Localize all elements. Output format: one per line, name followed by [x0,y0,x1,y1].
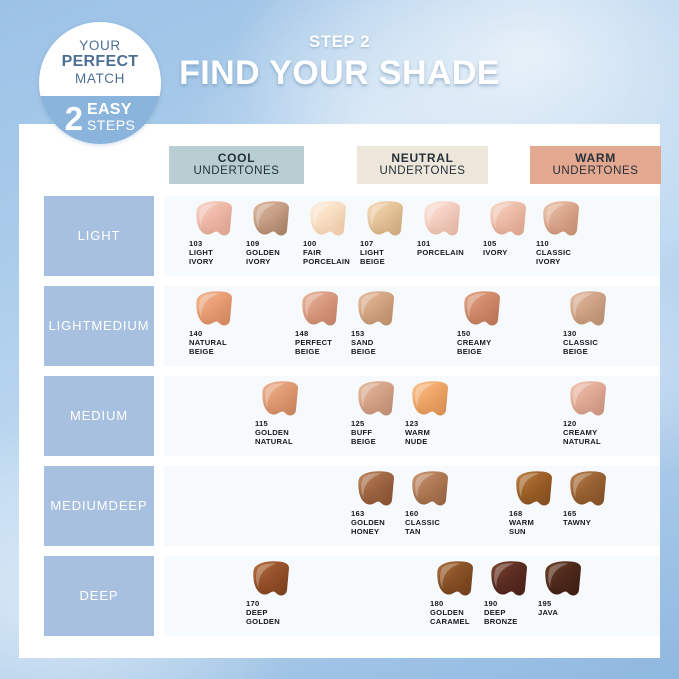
shade-swatch-153[interactable]: 153SANDBEIGE [350,290,412,364]
shade-swatch-165[interactable]: 165TAWNY [562,470,624,544]
foundation-smear-icon [363,200,409,240]
foundation-smear-icon [433,560,479,600]
undertone-neutral-sub: UNDERTONES [379,165,465,178]
shade-info: 120CREAMYNATURAL [563,420,601,447]
shade-name: TAWNY [563,519,591,528]
shade-swatch-160[interactable]: 160CLASSICTAN [404,470,466,544]
shade-info: 107LIGHTBEIGE [360,240,385,267]
undertone-cool-sub: UNDERTONES [193,165,279,178]
depth-label-medium: MEDIUM [44,376,154,456]
shade-swatch-123[interactable]: 123WARMNUDE [404,380,466,454]
depth-label-light-medium: LIGHTMEDIUM [44,286,154,366]
shade-info: 190DEEPBRONZE [484,600,518,627]
shade-info: 160CLASSICTAN [405,510,440,537]
shade-swatch-100[interactable]: 100FAIRPORCELAIN [302,200,364,274]
shade-info: 140NATURALBEIGE [189,330,227,357]
shade-name: JAVA [538,609,558,618]
badge-top-text: YOUR PERFECT MATCH [39,38,161,86]
shade-info: 105IVORY [483,240,508,258]
foundation-smear-icon [192,290,238,330]
shade-swatch-140[interactable]: 140NATURALBEIGE [188,290,250,364]
foundation-smear-icon [354,380,400,420]
shade-info: 110CLASSICIVORY [536,240,571,267]
foundation-smear-icon [541,560,587,600]
shade-name: NATURAL [255,438,293,447]
shade-swatch-103[interactable]: 103LIGHTIVORY [188,200,250,274]
shade-row: MEDIUM 115GOLDENNATURAL [19,376,660,456]
badge-steps-label: STEPS [87,117,135,133]
shade-info: 195JAVA [538,600,558,618]
foundation-smear-icon [487,560,533,600]
shade-row: DEEP 170DEEPGOLDEN [19,556,660,636]
undertone-header-warm: WARM UNDERTONES [530,146,661,184]
shade-name: HONEY [351,528,385,537]
shade-swatch-195[interactable]: 195JAVA [537,560,599,634]
shade-info: 130CLASSICBEIGE [563,330,598,357]
foundation-smear-icon [249,560,295,600]
undertone-neutral-name: NEUTRAL [391,152,453,165]
shade-name: IVORY [189,258,214,267]
shade-info: 170DEEPGOLDEN [246,600,280,627]
shade-name: GOLDEN [246,618,280,627]
undertone-cool-name: COOL [218,152,255,165]
foundation-smear-icon [298,290,344,330]
perfect-match-badge: YOUR PERFECT MATCH 2 EASY STEPS [39,22,161,144]
shade-swatch-120[interactable]: 120CREAMYNATURAL [562,380,624,454]
foundation-smear-icon [408,470,454,510]
foundation-smear-icon [486,200,532,240]
shade-swatch-101[interactable]: 101PORCELAIN [416,200,478,274]
shade-name: BEIGE [360,258,385,267]
shade-info: 150CREAMYBEIGE [457,330,491,357]
foundation-smear-icon [192,200,238,240]
shade-name: BEIGE [563,348,598,357]
shade-swatch-130[interactable]: 130CLASSICBEIGE [562,290,624,364]
foundation-smear-icon [566,470,612,510]
shade-info: 168WARMSUN [509,510,534,537]
foundation-smear-icon [420,200,466,240]
shade-name: CARAMEL [430,618,470,627]
foundation-smear-icon [354,290,400,330]
shade-info: 163GOLDENHONEY [351,510,385,537]
shade-name: BRONZE [484,618,518,627]
shade-swatch-150[interactable]: 150CREAMYBEIGE [456,290,518,364]
badge-line-perfect: PERFECT [39,53,161,71]
depth-label-light: LIGHT [44,196,154,276]
shade-info: 109GOLDENIVORY [246,240,280,267]
shade-name: NATURAL [563,438,601,447]
badge-line-your: YOUR [39,38,161,53]
shade-swatch-107[interactable]: 107LIGHTBEIGE [359,200,421,274]
shade-row: LIGHTMEDIUM 140NATURALBEIGE [19,286,660,366]
shade-swatch-170[interactable]: 170DEEPGOLDEN [245,560,307,634]
shade-name: BEIGE [189,348,227,357]
shade-name: SUN [509,528,534,537]
undertone-header-neutral: NEUTRAL UNDERTONES [357,146,488,184]
shade-swatch-125[interactable]: 125BUFFBEIGE [350,380,412,454]
undertone-warm-sub: UNDERTONES [552,165,638,178]
shade-swatch-148[interactable]: 148PERFECTBEIGE [294,290,356,364]
shade-info: 125BUFFBEIGE [351,420,376,447]
shade-swatch-180[interactable]: 180GOLDENCARAMEL [429,560,491,634]
shade-swatch-168[interactable]: 168WARMSUN [508,470,570,544]
shade-chart-card: COOL UNDERTONES NEUTRAL UNDERTONES WARM … [19,124,660,658]
shade-name: IVORY [536,258,571,267]
shade-swatch-163[interactable]: 163GOLDENHONEY [350,470,412,544]
shade-swatch-190[interactable]: 190DEEPBRONZE [483,560,545,634]
foundation-smear-icon [512,470,558,510]
foundation-smear-icon [408,380,454,420]
shade-name: BEIGE [351,438,376,447]
shade-info: 153SANDBEIGE [351,330,376,357]
shade-name: BEIGE [457,348,491,357]
shade-name: PORCELAIN [417,249,464,258]
depth-label-deep: DEEP [44,556,154,636]
foundation-smear-icon [354,470,400,510]
shade-info: 103LIGHTIVORY [189,240,214,267]
foundation-smear-icon [539,200,585,240]
shade-swatch-109[interactable]: 109GOLDENIVORY [245,200,307,274]
shade-name: NUDE [405,438,430,447]
shade-info: 100FAIRPORCELAIN [303,240,350,267]
undertone-header-cool: COOL UNDERTONES [169,146,304,184]
foundation-smear-icon [566,290,612,330]
shade-info: 180GOLDENCARAMEL [430,600,470,627]
foundation-smear-icon [566,380,612,420]
shade-name: IVORY [483,249,508,258]
depth-label-medium-deep: MEDIUMDEEP [44,466,154,546]
foundation-smear-icon [306,200,352,240]
badge-steps-block: 2 EASY STEPS [39,96,161,140]
shade-info: 123WARMNUDE [405,420,430,447]
foundation-smear-icon [258,380,304,420]
shade-name: BEIGE [295,348,332,357]
foundation-smear-icon [249,200,295,240]
shade-info: 148PERFECTBEIGE [295,330,332,357]
badge-easy-steps-wrap: EASY STEPS [87,102,135,134]
badge-easy-label: EASY [87,101,132,118]
shade-swatch-110[interactable]: 110CLASSICIVORY [535,200,597,274]
undertone-warm-name: WARM [575,152,616,165]
shade-name: TAN [405,528,440,537]
shade-info: 165TAWNY [563,510,591,528]
shade-row: MEDIUMDEEP 163GOLDENHONEY [19,466,660,546]
shade-name: PORCELAIN [303,258,350,267]
shade-name: BEIGE [351,348,376,357]
badge-line-match: MATCH [39,71,161,86]
shade-name: IVORY [246,258,280,267]
shade-info: 115GOLDENNATURAL [255,420,293,447]
shade-row: LIGHT 103LIGHTIVORY [19,196,660,276]
badge-step-number: 2 [65,102,83,135]
shade-swatch-115[interactable]: 115GOLDENNATURAL [254,380,316,454]
foundation-smear-icon [460,290,506,330]
shade-info: 101PORCELAIN [417,240,464,258]
